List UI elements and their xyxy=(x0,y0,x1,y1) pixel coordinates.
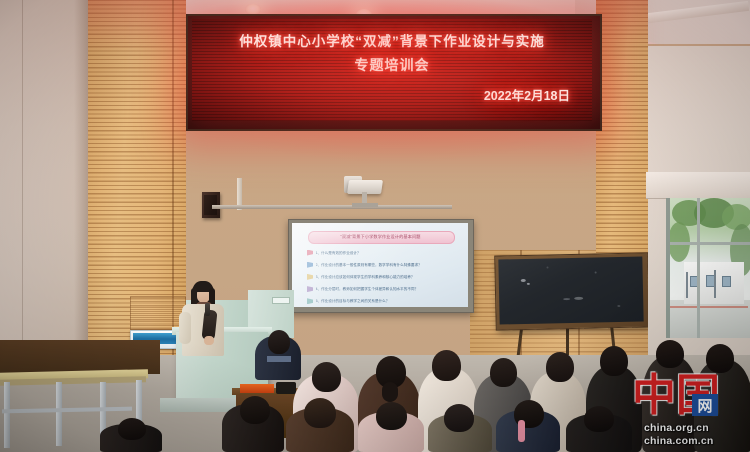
window-mullion-vertical xyxy=(697,198,700,338)
attendee-front-black-head xyxy=(584,406,614,432)
bullet-flag-icon xyxy=(307,298,313,304)
watermark-logo-box: 网 xyxy=(692,394,718,416)
wall-vent-grille xyxy=(130,296,186,330)
podium-label-plate xyxy=(272,297,290,304)
attendee-white-coat-head xyxy=(432,350,461,381)
microphone xyxy=(205,303,210,316)
desk-item-orange-folder xyxy=(240,384,274,393)
attendee-ponytail-hair xyxy=(382,382,398,402)
slide-bullet-item: 3、作业设计应该如何体现学生的学科素养和核心能力的培养？ xyxy=(307,272,459,281)
projector-rail xyxy=(212,205,452,209)
slide-bullet-item: 2、作业设计的基本一般性原则有哪些，数学学科有什么特殊要求？ xyxy=(307,260,459,269)
bullet-flag-icon xyxy=(307,274,313,280)
attendee-collar xyxy=(267,356,291,362)
bullet-flag-icon xyxy=(307,250,313,256)
attendee-front-left-head xyxy=(118,418,146,440)
presenter-sleeve xyxy=(179,312,191,344)
window-view-red-line xyxy=(670,306,748,308)
attendee-black-coat-head xyxy=(600,346,628,376)
slide-bullet-text: 5、作业设计的目标与教学之间的关系是什么？ xyxy=(316,298,460,304)
slide-bullet-text: 2、作业设计的基本一般性原则有哪些，数学学科有什么特殊要求？ xyxy=(316,262,460,268)
table-leg xyxy=(4,382,10,448)
desk-item-pink-bottle xyxy=(518,420,525,442)
window-frame-left xyxy=(666,198,670,338)
projector-mount xyxy=(352,203,378,207)
photo-scene: 仲权镇中心小学校“双减”背景下作业设计与实施 专题培训会 2022年2月18日 … xyxy=(0,0,750,452)
attendee-front-brown-head xyxy=(304,398,336,428)
attendee-far-right-head xyxy=(706,344,734,373)
attendee-beige-coat-head xyxy=(546,352,574,382)
window-view-post xyxy=(686,272,688,298)
slide-bullet-text: 3、作业设计应该如何体现学生的学科素养和核心能力的培养？ xyxy=(316,274,460,280)
slide-bullet-item: 4、作业分层时，教师如何把握学生个体差异和认知水平的不同？ xyxy=(307,285,459,294)
attendee-navy-suit-head xyxy=(268,330,290,354)
attendee-front-dark-head xyxy=(240,396,270,424)
chalk-blackboard-surface xyxy=(498,256,643,324)
attendee-front-pink-head xyxy=(376,402,407,430)
slide-bullet-text: 4、作业分层时，教师如何把握学生个体差异和认知水平的不同？ xyxy=(316,286,460,292)
slide-bullet-list: 1、什么是有效的作业设计？ 2、作业设计的基本一般性原则有哪些，数学学科有什么特… xyxy=(307,248,459,309)
attendee-grey-jacket-head xyxy=(490,358,517,387)
bullet-flag-icon xyxy=(307,262,313,268)
attendee-right-edge-body xyxy=(642,356,698,452)
table-leg xyxy=(56,382,62,446)
presenter-hand xyxy=(204,336,214,345)
attendee-right-edge-head xyxy=(656,340,684,368)
slat-panel-red-glow xyxy=(596,0,648,46)
attendee-pink-puffer-head xyxy=(312,362,341,392)
slide-bullet-item: 5、作业设计的目标与教学之间的关系是什么？ xyxy=(307,297,459,306)
slide-title-text: “双减”背景下小学数学作业设计的基本问题 xyxy=(310,233,451,241)
slide-bullet-text: 1、什么是有效的作业设计？ xyxy=(316,250,460,256)
bullet-flag-icon xyxy=(307,286,313,292)
led-banner-line-2: 专题培训会 xyxy=(192,55,592,75)
window-mullion-horizontal xyxy=(668,242,750,245)
led-banner-line-1: 仲权镇中心小学校“双减”背景下作业设计与实施 xyxy=(192,30,592,50)
window-view-post xyxy=(714,270,716,298)
led-banner-date: 2022年2月18日 xyxy=(192,85,592,104)
window-view-sign xyxy=(722,276,731,287)
wall-seam xyxy=(22,0,23,362)
desk-item-bag xyxy=(276,382,296,394)
window-header-valance xyxy=(646,172,750,199)
attendee-front-olive-head xyxy=(444,404,474,432)
slide-bullet-item: 1、什么是有效的作业设计？ xyxy=(307,248,459,257)
